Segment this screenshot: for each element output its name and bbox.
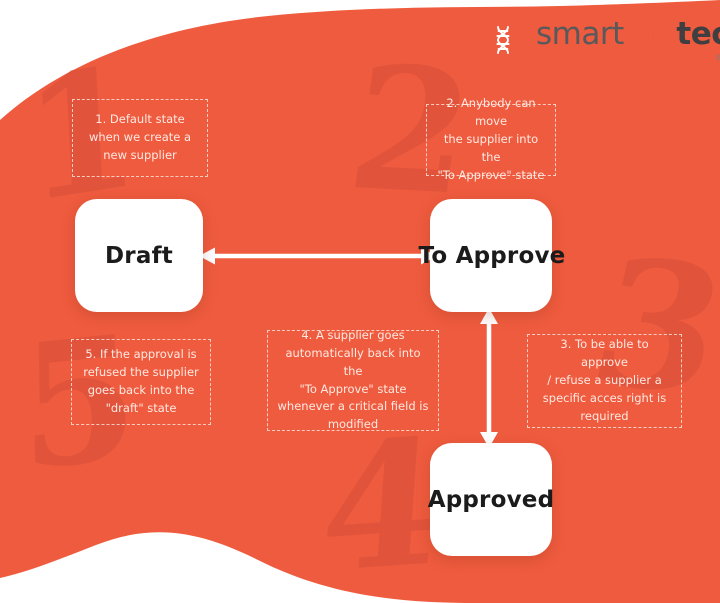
- callout-text-5: 5. If the approval is refused the suppli…: [83, 346, 199, 417]
- brand-name-tech: tech: [676, 16, 720, 52]
- callout-text-2: 2. Anybody can move the supplier into th…: [435, 95, 547, 184]
- arrow-to-approve-approved: [473, 308, 505, 448]
- brand-logo: smartbiotech by ideals: [481, 18, 720, 62]
- slide-canvas: 1 2 3 4 5 smartbiotech by ideals: [0, 0, 720, 603]
- state-label-to-approve: To Approve: [419, 243, 566, 269]
- state-label-approved: Approved: [428, 487, 555, 513]
- callout-note-5: 5. If the approval is refused the suppli…: [71, 339, 211, 425]
- brand-name-bio: bio: [624, 16, 677, 52]
- state-box-approved[interactable]: Approved: [430, 443, 552, 556]
- callout-note-3: 3. To be able to approve / refuse a supp…: [527, 334, 682, 428]
- state-box-draft[interactable]: Draft: [75, 199, 203, 312]
- callout-text-3: 3. To be able to approve / refuse a supp…: [536, 336, 673, 425]
- brand-name-smart: smart: [536, 16, 624, 52]
- callout-note-4: 4. A supplier goes automatically back in…: [267, 330, 439, 431]
- brand-tagline: by ideals: [716, 54, 720, 62]
- brand-wordmark: smartbiotech by ideals: [536, 19, 720, 62]
- callout-note-2: 2. Anybody can move the supplier into th…: [426, 104, 556, 176]
- state-box-to-approve[interactable]: To Approve: [430, 199, 552, 312]
- callout-text-1: 1. Default state when we create a new su…: [89, 111, 191, 164]
- callout-text-4: 4. A supplier goes automatically back in…: [276, 327, 430, 434]
- state-label-draft: Draft: [105, 243, 173, 269]
- dna-helix-icon: [481, 18, 525, 62]
- arrow-draft-to-approve: [199, 243, 437, 269]
- callout-note-1: 1. Default state when we create a new su…: [72, 99, 208, 177]
